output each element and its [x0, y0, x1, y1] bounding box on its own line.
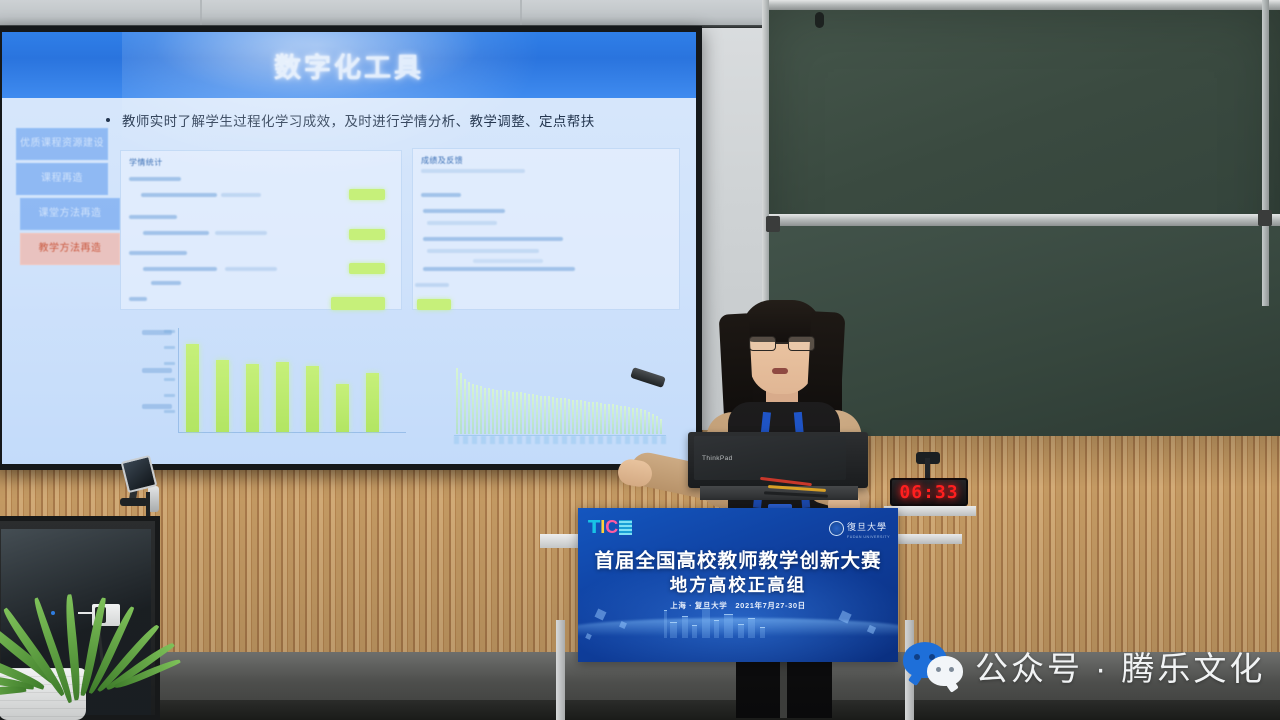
- histogram-bar: [512, 392, 514, 434]
- skyline-building: [748, 618, 755, 638]
- chart-y-tick: [164, 362, 175, 365]
- chart-y-tick: [164, 346, 175, 349]
- skyline-building: [692, 625, 697, 638]
- panel-text-line: [129, 177, 181, 181]
- bar-1: [186, 344, 199, 432]
- panel-badge: [349, 229, 385, 240]
- histogram-bar: [660, 419, 662, 434]
- lecture-hall-scene: 数字化工具 教师实时了解学生过程化学习成效，及时进行学情分析、教学调整、定点帮扶…: [0, 0, 1280, 720]
- histogram-bar: [608, 404, 610, 434]
- panel-badge: [349, 263, 385, 274]
- floor: [0, 700, 1280, 720]
- panel-text-line: [151, 281, 181, 285]
- histogram-bar: [532, 394, 534, 434]
- histogram-bar: [616, 405, 618, 434]
- wechat-eye: [914, 654, 920, 660]
- histogram-bar: [540, 396, 542, 434]
- histogram-bar: [656, 416, 658, 434]
- histogram-bar: [504, 390, 506, 434]
- histogram-bar: [496, 390, 498, 434]
- bullet-marker: [106, 118, 110, 122]
- wechat-icon: [903, 640, 963, 692]
- skyline-building: [760, 627, 765, 638]
- cable-bundle: [760, 478, 860, 500]
- chalkboard-rail-top: [762, 0, 1280, 10]
- histogram-bar: [484, 388, 486, 434]
- histogram-bar: [552, 397, 554, 434]
- ceiling-panel-line: [200, 0, 202, 26]
- histogram-bar: [528, 394, 530, 434]
- slide-title: 数字化工具: [274, 46, 424, 85]
- histogram-bar: [480, 386, 482, 434]
- panel-text-line: [143, 267, 217, 271]
- slide-panel-left: 学情统计: [120, 150, 402, 310]
- histogram-bar: [636, 408, 638, 434]
- chalkboard-frame-right: [1262, 0, 1269, 306]
- histogram-bar: [460, 373, 462, 434]
- histogram-bar: [600, 403, 602, 434]
- chalkboard-rail-middle: [762, 214, 1280, 226]
- chart-x-axis: [178, 432, 406, 433]
- bar-3: [246, 364, 259, 432]
- desk-leg-left: [556, 620, 565, 720]
- histogram-bar: [624, 406, 626, 434]
- slide-nav-item-0: 优质课程资源建设: [16, 128, 108, 160]
- histogram-bar: [592, 402, 594, 434]
- histogram-bar: [576, 400, 578, 434]
- chalkboard-clip: [766, 216, 780, 232]
- chart-y-label: [142, 404, 172, 409]
- histogram-bar: [620, 406, 622, 434]
- panel-text-line: [423, 209, 505, 213]
- chart-y-tick: [164, 378, 175, 381]
- histogram-bar: [572, 400, 574, 434]
- banner-shard: [585, 633, 592, 640]
- panel-text-line: [129, 251, 187, 255]
- panel-text-line: [129, 215, 177, 219]
- slide-nav-item-1: 课程再造: [16, 163, 108, 195]
- panel-text-line: [215, 231, 267, 235]
- banner-skyline-graphic: [578, 608, 898, 662]
- fudan-seal-icon: [829, 521, 844, 536]
- panel-badge: [417, 299, 451, 310]
- histogram-bar: [544, 396, 546, 434]
- panel-badge-wide: [331, 297, 385, 310]
- cabinet-led-blue: [51, 611, 55, 615]
- chart-y-tick: [164, 410, 175, 413]
- histogram-bar: [556, 398, 558, 434]
- histogram-xlabels: [454, 436, 666, 444]
- panel-text-line: [427, 221, 497, 225]
- countdown-timer: 06:33: [890, 478, 968, 506]
- glasses-bridge: [776, 342, 788, 344]
- panel-text-line: [129, 297, 147, 301]
- camera-tablet-mount: [118, 458, 158, 500]
- slide-nav: 优质课程资源建设 课程再造 课堂方法再造 教学方法再造: [16, 128, 108, 268]
- panel-text-line: [421, 169, 525, 173]
- histogram-bar: [596, 402, 598, 434]
- bar-6: [336, 384, 349, 432]
- wechat-eye-small: [949, 667, 954, 672]
- panel-text-line: [221, 193, 261, 197]
- chalkboard-clip: [1258, 210, 1272, 226]
- histogram-bar: [500, 390, 502, 434]
- histogram-bar: [632, 408, 634, 434]
- panel-text-line: [423, 237, 563, 241]
- mic-pole: [146, 492, 150, 516]
- histogram-bar: [580, 400, 582, 434]
- histogram-bar: [472, 384, 474, 434]
- histogram-bar: [640, 409, 642, 434]
- skyline-building: [714, 620, 719, 638]
- fudan-university-name-en: FUDAN UNIVERSITY: [847, 535, 890, 539]
- histogram-bar: [524, 393, 526, 434]
- histogram-bar: [584, 401, 586, 434]
- watermark-text: 公众号 · 腾乐文化: [975, 642, 1265, 690]
- skyline-building: [670, 622, 677, 638]
- panel-text-line: [415, 283, 449, 287]
- event-banner: T I C 復旦大學 FUDAN UNIVERSITY 首届全国高校教师教学创新…: [578, 508, 898, 662]
- panel-text-line: [473, 259, 543, 263]
- histogram-bar: [648, 412, 650, 434]
- panel-text-line: [423, 267, 575, 271]
- chart-y-axis: [178, 328, 179, 432]
- banner-title-line2: 地方高校正高组: [578, 572, 898, 597]
- histogram-bar: [588, 402, 590, 434]
- presenter-glasses: [748, 336, 816, 352]
- panel-text-line: [143, 231, 209, 235]
- chart-y-tick: [164, 330, 175, 333]
- slide-bullet-text: 教师实时了解学生过程化学习成效，及时进行学情分析、教学调整、定点帮扶: [122, 110, 662, 130]
- chalkboard-magnet: [815, 12, 824, 28]
- histogram-bar: [560, 398, 562, 434]
- panel-badge: [349, 189, 385, 200]
- cable-black: [764, 491, 828, 497]
- glasses-lens-left: [749, 336, 776, 351]
- panel-text-line: [225, 267, 277, 271]
- skyline-building: [702, 608, 710, 638]
- histogram-bar: [604, 404, 606, 434]
- fudan-university-logo: 復旦大學 FUDAN UNIVERSITY: [829, 517, 890, 539]
- tic-logo: T I C: [588, 516, 646, 538]
- slide-title-bar: 数字化工具: [2, 32, 696, 98]
- chalkboard-frame-left: [762, 0, 769, 306]
- bar-4: [276, 362, 289, 432]
- bar-2: [216, 360, 229, 432]
- tic-logo-letter-c: C: [605, 517, 618, 538]
- wechat-bubble-small: [927, 656, 963, 686]
- tic-logo-letter-t: T: [588, 517, 600, 538]
- banner-title-line1: 首届全国高校教师教学创新大赛: [578, 544, 898, 573]
- panel-text-line: [427, 249, 539, 253]
- histogram-bar: [564, 398, 566, 434]
- panel-text-line: [141, 193, 217, 197]
- banner-shard: [595, 609, 607, 621]
- channel-watermark: 公众号 · 腾乐文化: [903, 640, 1265, 692]
- slide-nav-item-2: 课堂方法再造: [20, 198, 120, 230]
- histogram-bar: [456, 368, 458, 434]
- skyline-building: [682, 616, 688, 638]
- panel-left-heading: 学情统计: [129, 157, 163, 168]
- panel-text-line: [421, 193, 461, 197]
- skyline-tower: [664, 610, 667, 638]
- histogram-bar: [536, 395, 538, 434]
- ceiling-panel-line: [520, 0, 522, 26]
- cable-yellow: [768, 485, 826, 492]
- histogram-bar: [488, 388, 490, 434]
- slide-nav-item-3: 教学方法再造: [20, 233, 120, 265]
- histogram-bar: [508, 391, 510, 434]
- bar-5: [306, 366, 319, 432]
- histogram-bar: [612, 404, 614, 434]
- wechat-eye-small: [936, 667, 941, 672]
- chart-y-label: [142, 368, 172, 373]
- histogram-bar: [492, 389, 494, 434]
- presentation-slide: 数字化工具 教师实时了解学生过程化学习成效，及时进行学情分析、教学调整、定点帮扶…: [2, 32, 696, 464]
- chart-y-tick: [164, 394, 175, 397]
- glasses-lens-right: [788, 336, 815, 351]
- presenter-mouth: [772, 368, 788, 374]
- histogram-bar: [628, 407, 630, 434]
- fudan-university-name: 復旦大學: [847, 523, 887, 533]
- laptop-brand-label: ThinkPad: [702, 455, 733, 462]
- skyline-building: [724, 614, 733, 638]
- histogram-bar: [476, 385, 478, 434]
- bar-7: [366, 373, 379, 432]
- skyline-building: [738, 624, 744, 638]
- histogram-bar: [652, 414, 654, 434]
- histogram-bar: [644, 410, 646, 434]
- projection-screen: 数字化工具 教师实时了解学生过程化学习成效，及时进行学情分析、教学调整、定点帮扶…: [2, 32, 696, 464]
- histogram-bar: [516, 392, 518, 434]
- histogram-bar: [568, 399, 570, 434]
- panel-right-heading: 成绩及反馈: [421, 155, 463, 166]
- tic-logo-block-icon: [619, 520, 632, 535]
- histogram-bar: [548, 396, 550, 434]
- histogram-bar: [468, 382, 470, 434]
- mount-base: [120, 498, 148, 506]
- histogram-bar: [520, 392, 522, 434]
- slide-bar-chart: [142, 324, 412, 446]
- timer-display: 06:33: [899, 482, 958, 503]
- slide-panel-right: 成绩及反馈: [412, 148, 680, 310]
- histogram-bar: [464, 379, 466, 434]
